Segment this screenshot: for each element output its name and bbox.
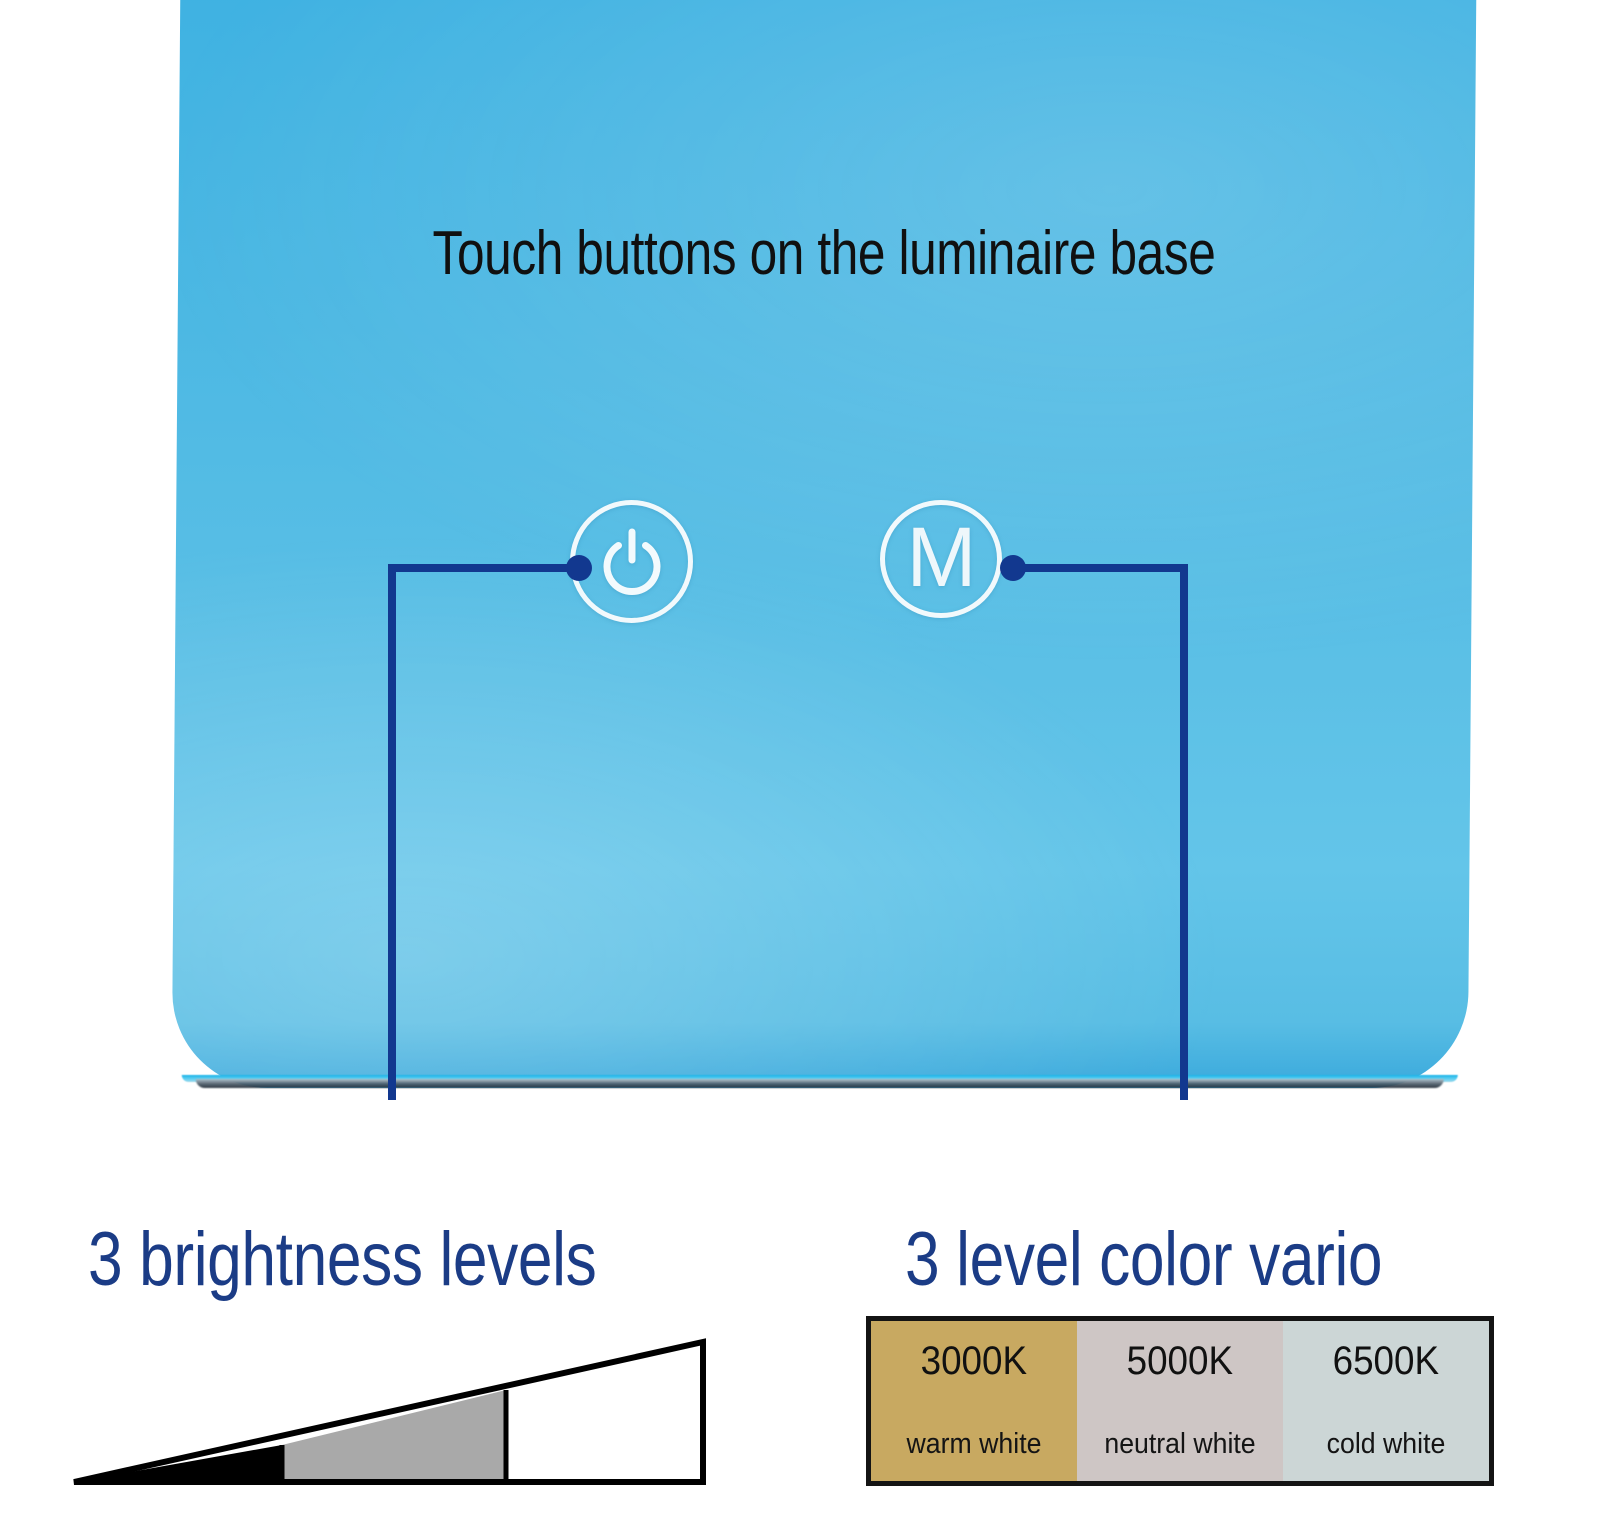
leader-dot-power xyxy=(566,555,592,581)
leader-line-brightness-vertical xyxy=(388,564,396,1100)
color-temperature-table: 3000K warm white 5000K neutral white 650… xyxy=(866,1316,1494,1486)
leader-line-brightness-horizontal xyxy=(388,564,580,572)
mode-touch-button[interactable]: M xyxy=(880,500,1002,618)
brightness-segment-medium xyxy=(282,1390,506,1482)
cct-name-6500k: cold white xyxy=(1291,1430,1481,1459)
base-edge-shadow xyxy=(196,1079,1444,1088)
cct-kelvin-5000k: 5000K xyxy=(1127,1341,1233,1381)
callout-brightness-title: 3 brightness levels xyxy=(88,1216,596,1303)
mode-m-icon: M xyxy=(885,505,997,613)
leader-line-color-vertical xyxy=(1180,564,1188,1100)
luminaire-photo: Touch buttons on the luminaire base M xyxy=(0,0,1600,1100)
leader-line-color-horizontal xyxy=(1010,564,1188,572)
surface-sheen xyxy=(172,0,1477,1088)
cct-cell-3000k: 3000K warm white xyxy=(871,1321,1077,1481)
cct-cell-6500k: 6500K cold white xyxy=(1283,1321,1489,1481)
callout-color-title: 3 level color vario xyxy=(905,1216,1382,1303)
page-title: Touch buttons on the luminaire base xyxy=(306,218,1343,289)
leader-dot-mode xyxy=(1000,555,1026,581)
cct-kelvin-3000k: 3000K xyxy=(921,1341,1027,1381)
cct-cell-5000k: 5000K neutral white xyxy=(1077,1321,1283,1481)
product-infographic: Touch buttons on the luminaire base M 3 … xyxy=(0,0,1600,1532)
cct-name-5000k: neutral white xyxy=(1085,1430,1275,1459)
brightness-ramp-diagram xyxy=(66,1330,712,1492)
cct-kelvin-6500k: 6500K xyxy=(1333,1341,1439,1381)
power-icon xyxy=(595,525,669,599)
luminaire-base-surface xyxy=(172,0,1477,1088)
cct-name-3000k: warm white xyxy=(879,1430,1069,1459)
